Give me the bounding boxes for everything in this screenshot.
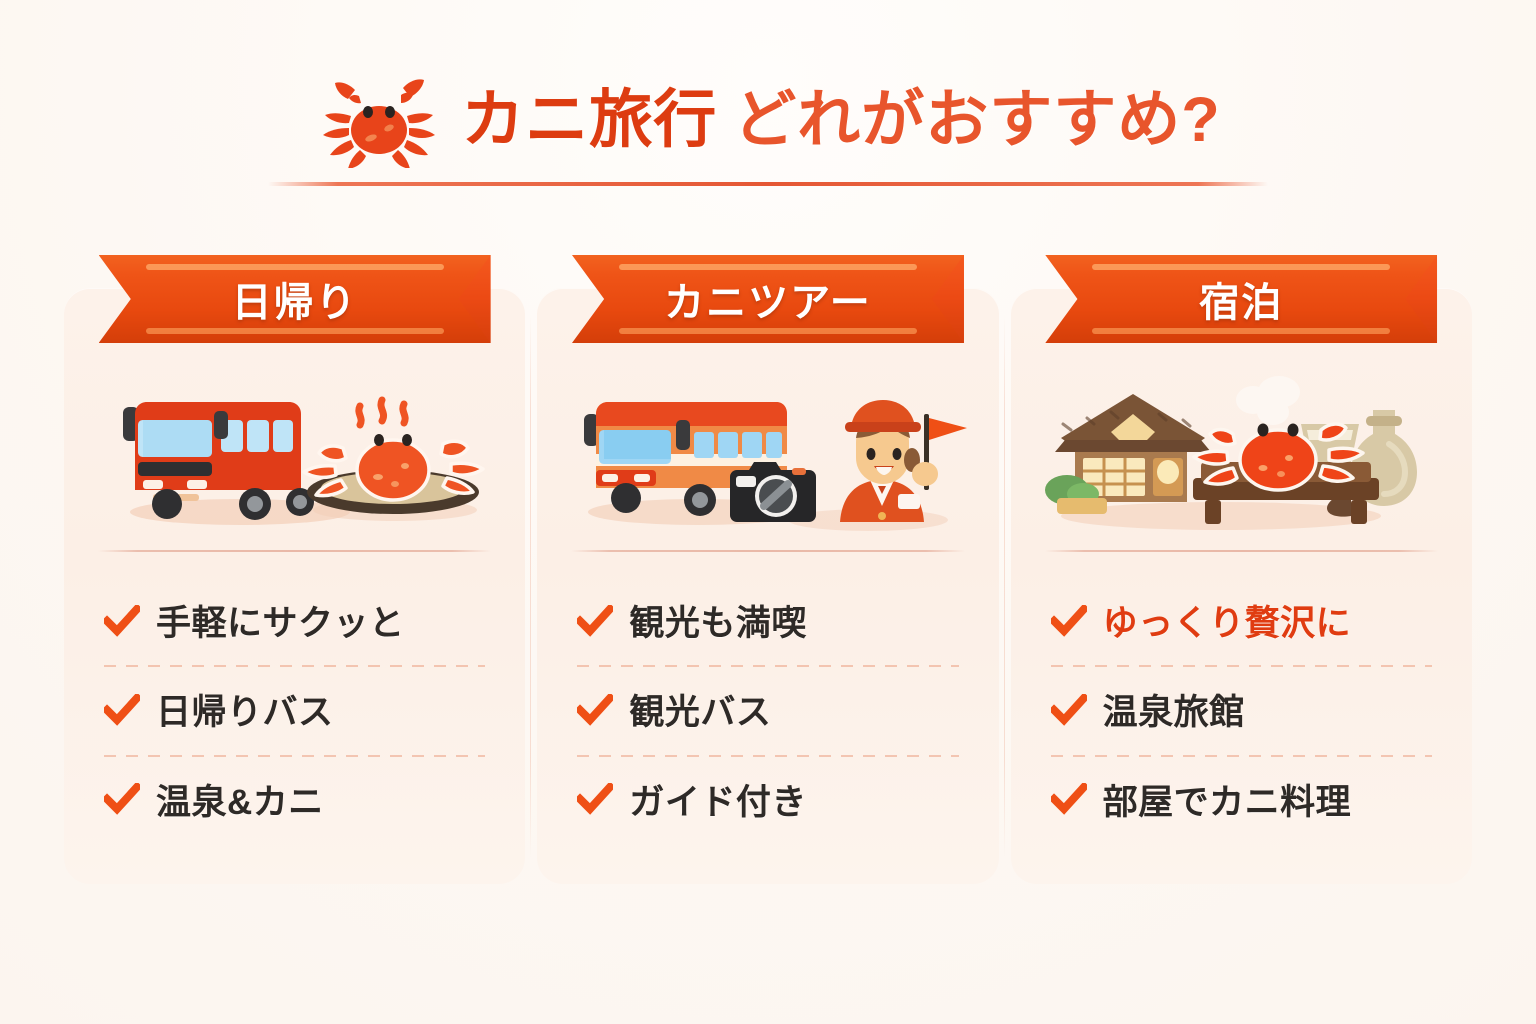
illustration-lodging <box>1011 362 1472 548</box>
check-icon <box>577 605 613 637</box>
feature-item[interactable]: ガイド付き <box>577 755 970 844</box>
feature-label: ゆっくり贅沢に <box>1103 595 1352 646</box>
banner-label-day-trip: 日帰り <box>232 270 358 328</box>
feature-list-crab-tour: 観光も満喫 観光バス ガイド付き <box>577 576 970 844</box>
check-icon <box>1051 783 1087 815</box>
feature-label: 温泉&カニ <box>156 774 324 825</box>
banner-lodging: 宿泊 <box>1045 255 1437 343</box>
feature-item[interactable]: 観光も満喫 <box>577 576 970 665</box>
tour-guide-with-flag-icon <box>840 400 967 522</box>
feature-item[interactable]: 手軽にサクッと <box>104 576 497 665</box>
camera-icon <box>730 462 816 522</box>
card-lodging[interactable]: 宿泊 <box>1011 288 1472 884</box>
crab-icon <box>315 72 443 168</box>
feature-label: ガイド付き <box>629 774 807 825</box>
feature-label: 観光も満喫 <box>629 595 807 646</box>
page-title: カニ旅行どれがおすすめ? <box>461 89 1220 152</box>
feature-label: 日帰りバス <box>156 684 334 735</box>
steam-icon <box>1236 376 1300 425</box>
feature-item[interactable]: 観光バス <box>577 665 970 754</box>
check-icon <box>104 783 140 815</box>
ryokan-inn-icon <box>1045 394 1211 514</box>
illustration-divider <box>98 550 491 552</box>
feature-item[interactable]: 温泉旅館 <box>1051 665 1444 754</box>
feature-item[interactable]: 部屋でカニ料理 <box>1051 755 1444 844</box>
check-icon <box>104 694 140 726</box>
check-icon <box>104 605 140 637</box>
banner-label-crab-tour: カニツアー <box>664 270 872 328</box>
feature-item[interactable]: ゆっくり贅沢に <box>1051 576 1444 665</box>
banner-label-lodging: 宿泊 <box>1199 270 1283 328</box>
steaming-crab-plate-icon <box>304 400 483 514</box>
feature-list-lodging: ゆっくり贅沢に 温泉旅館 部屋でカニ料理 <box>1051 576 1444 844</box>
check-icon <box>577 783 613 815</box>
feature-item[interactable]: 日帰りバス <box>104 665 497 754</box>
banner-highlight-bottom <box>619 328 917 334</box>
feature-item[interactable]: 温泉&カニ <box>104 755 497 844</box>
feature-label: 部屋でカニ料理 <box>1103 774 1352 825</box>
illustration-divider <box>1045 550 1438 552</box>
feature-label: 手軽にサクッと <box>156 595 405 646</box>
illustration-crab-tour <box>537 362 998 548</box>
feature-list-day-trip: 手軽にサクッと 日帰りバス 温泉&カニ <box>104 576 497 844</box>
feature-label: 温泉旅館 <box>1103 684 1245 735</box>
feature-label: 観光バス <box>629 684 771 735</box>
check-icon <box>1051 605 1087 637</box>
banner-highlight-bottom <box>1092 328 1390 334</box>
page-header: カニ旅行どれがおすすめ? <box>0 72 1536 202</box>
banner-highlight-bottom <box>146 328 444 334</box>
comparison-columns: 日帰り <box>64 288 1472 884</box>
title-underline <box>268 182 1268 186</box>
banner-day-trip: 日帰り <box>99 255 491 343</box>
title-row: カニ旅行どれがおすすめ? <box>315 72 1220 168</box>
card-day-trip[interactable]: 日帰り <box>64 288 525 884</box>
illustration-day-trip <box>64 362 525 548</box>
infographic-stage: カニ旅行どれがおすすめ? 日帰り <box>0 0 1536 1024</box>
check-icon <box>1051 694 1087 726</box>
banner-crab-tour: カニツアー <box>572 255 964 343</box>
illustration-divider <box>571 550 964 552</box>
page-title-main: カニ旅行 <box>461 85 717 155</box>
check-icon <box>577 694 613 726</box>
card-crab-tour[interactable]: カニツアー <box>537 288 998 884</box>
page-title-sub: どれがおすすめ? <box>733 85 1220 155</box>
